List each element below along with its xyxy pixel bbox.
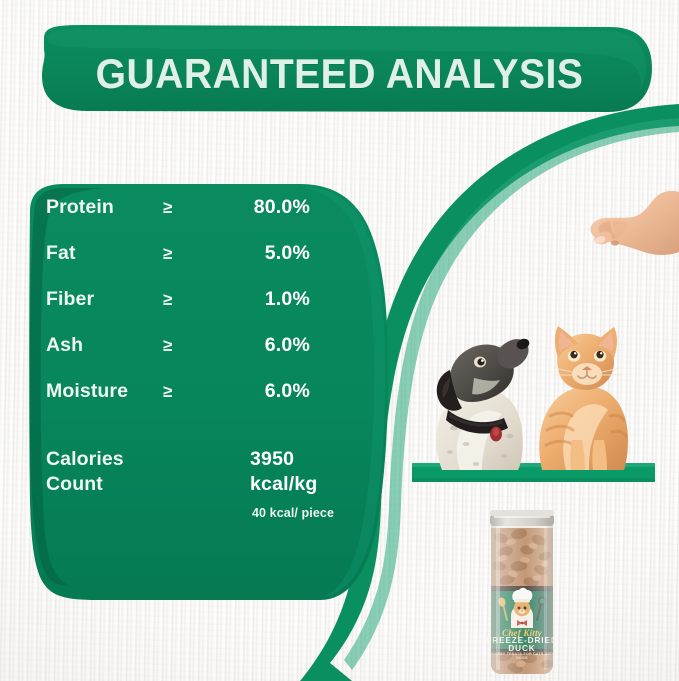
treat-piece [611, 240, 619, 245]
comparator-symbol: ≥ [163, 382, 172, 402]
nutrient-value: 1.0% [180, 288, 310, 311]
nutrient-label: Moisture [46, 380, 128, 403]
dog-looking-up-icon [424, 318, 542, 470]
table-row: Fiber ≥ 1.0% [30, 288, 350, 334]
comparator-symbol: ≥ [163, 336, 172, 356]
comparator-symbol: ≥ [163, 198, 172, 218]
calories-label-line1: Calories [46, 448, 124, 471]
nutrient-value: 80.0% [180, 196, 310, 219]
table-row: Ash ≥ 6.0% [30, 334, 350, 380]
comparator-symbol: ≥ [163, 290, 172, 310]
nutrient-label: Fat [46, 242, 76, 265]
nutrient-label: Protein [46, 196, 114, 219]
comparator-symbol: ≥ [163, 244, 172, 264]
analysis-table: Protein ≥ 80.0% Fat ≥ 5.0% Fiber ≥ 1.0% … [30, 196, 350, 426]
infographic-canvas: GUARANTEED ANALYSIS Protein ≥ 80.0% Fat … [0, 0, 679, 681]
table-row: Protein ≥ 80.0% [30, 196, 350, 242]
nutrient-value: 5.0% [180, 242, 310, 265]
calories-subnote: 40 kcal/ piece [252, 506, 334, 520]
nutrient-value: 6.0% [180, 334, 310, 357]
product-jar: Chef Kitty FREEZE-DRIED DUCK YUMMY TREAT… [485, 508, 559, 681]
nutrient-label: Ash [46, 334, 83, 357]
page-title: GUARANTEED ANALYSIS [24, 50, 655, 98]
calories-unit: kcal/kg [250, 473, 318, 496]
hand-holding-treat-icon [576, 186, 679, 278]
orange-tabby-cat-icon [532, 312, 636, 470]
table-row: Fat ≥ 5.0% [30, 242, 350, 288]
nutrient-value: 6.0% [180, 380, 310, 403]
nutrient-label: Fiber [46, 288, 94, 311]
calories-label-line2: Count [46, 473, 103, 496]
jar-glass [491, 522, 553, 674]
calories-value: 3950 [250, 448, 294, 471]
table-row: Moisture ≥ 6.0% [30, 380, 350, 426]
